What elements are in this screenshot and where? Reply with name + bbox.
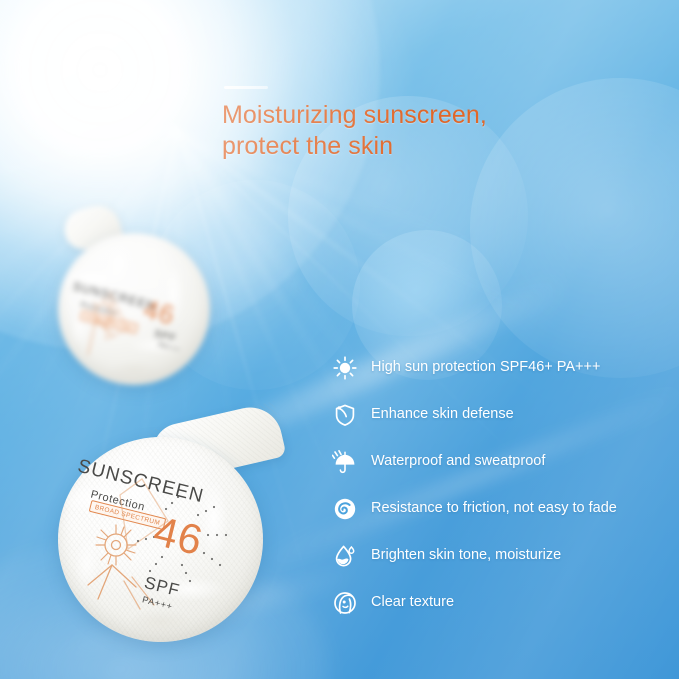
sachet-disc: SUNSCREEN Protection BROAD SPECTRUM 46 S… [58, 233, 210, 385]
feature-list: High sun protection SPF46+ PA+++ Enhance… [330, 352, 670, 634]
feature-label: High sun protection SPF46+ PA+++ [371, 359, 600, 376]
spiral-icon [330, 494, 360, 524]
feature-item-clear-texture: Clear texture [330, 587, 670, 618]
feature-item-sun-protection: High sun protection SPF46+ PA+++ [330, 352, 670, 383]
flower-illustration [58, 233, 210, 385]
umbrella-icon [330, 447, 360, 477]
headline-line-2: protect the skin [222, 131, 562, 162]
water-drop-icon [330, 541, 360, 571]
face-icon [330, 588, 360, 618]
shield-icon [330, 400, 360, 430]
product-banner: Moisturizing sunscreen, protect the skin… [0, 0, 679, 679]
feature-item-skin-defense: Enhance skin defense [330, 399, 670, 430]
sachet-disc: SUNSCREEN Protection BROAD SPECTRUM [58, 437, 263, 642]
feature-label: Clear texture [371, 594, 454, 611]
headline-rule [224, 86, 268, 89]
feature-item-waterproof: Waterproof and sweatproof [330, 446, 670, 477]
sachet-artwork: SUNSCREEN Protection BROAD SPECTRUM [58, 437, 263, 642]
sun-icon [330, 353, 360, 383]
feature-label: Enhance skin defense [371, 406, 514, 423]
spf-number: 46 [150, 510, 207, 563]
product-sachet-small: SUNSCREEN Protection BROAD SPECTRUM 46 S… [50, 205, 240, 395]
feature-label: Waterproof and sweatproof [371, 453, 545, 470]
feature-item-friction-resistance: Resistance to friction, not easy to fade [330, 493, 670, 524]
feature-label: Resistance to friction, not easy to fade [371, 500, 617, 517]
product-sachet-large: SUNSCREEN Protection BROAD SPECTRUM [58, 415, 308, 645]
headline-block: Moisturizing sunscreen, protect the skin [222, 86, 562, 162]
feature-label: Brighten skin tone, moisturize [371, 547, 561, 564]
sachet-artwork: SUNSCREEN Protection BROAD SPECTRUM 46 S… [58, 233, 210, 385]
headline-line-1: Moisturizing sunscreen, [222, 100, 562, 131]
feature-item-brighten-skin: Brighten skin tone, moisturize [330, 540, 670, 571]
